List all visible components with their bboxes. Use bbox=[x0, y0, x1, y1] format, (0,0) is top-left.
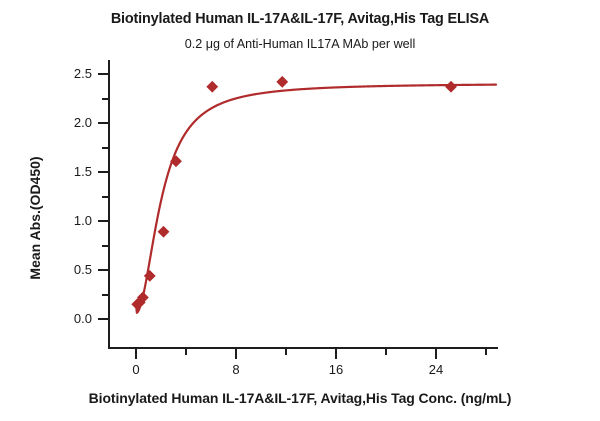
y-axis-title: Mean Abs.(OD450) bbox=[27, 118, 43, 318]
plot-area: 2.5 2.0 1.5 1.0 0.5 0.0 0 8 16 24 bbox=[0, 0, 600, 421]
data-point-markers bbox=[132, 77, 456, 310]
data-point bbox=[277, 77, 287, 87]
data-point bbox=[207, 82, 217, 92]
data-point bbox=[158, 227, 168, 237]
elisa-chart-figure: Biotinylated Human IL-17A&IL-17F, Avitag… bbox=[0, 0, 600, 421]
data-point bbox=[446, 82, 456, 92]
data-series-layer bbox=[0, 0, 600, 421]
x-axis-title: Biotinylated Human IL-17A&IL-17F, Avitag… bbox=[0, 390, 600, 406]
fit-curve bbox=[136, 85, 496, 313]
